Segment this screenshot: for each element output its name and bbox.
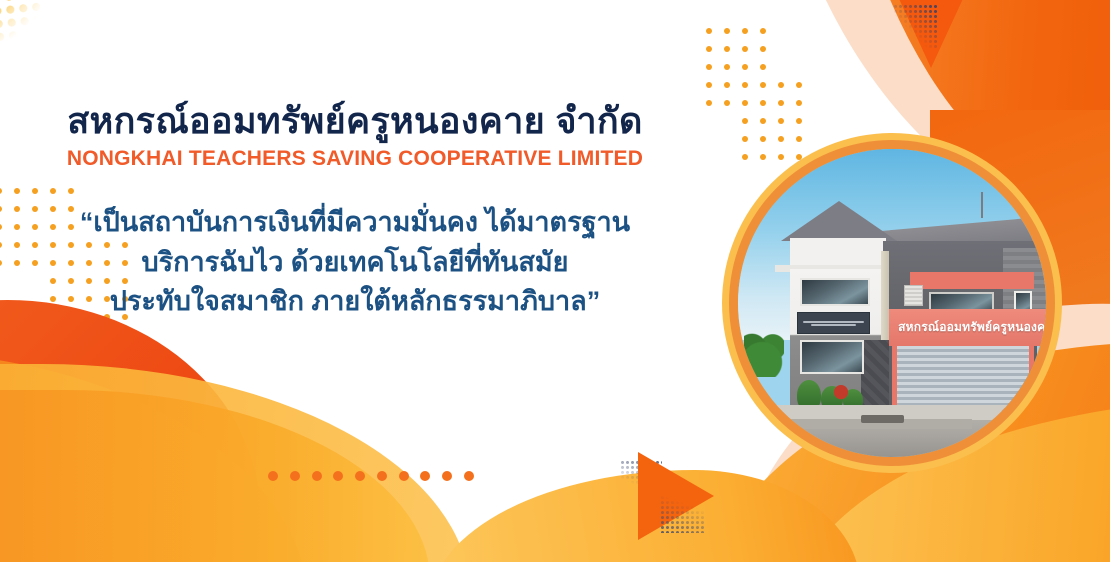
triangle-down-halftone-icon: [893, 4, 937, 48]
photo-coral-accent-band: [910, 272, 1033, 289]
photo-drain-cover: [861, 415, 904, 423]
vision-quote: “เป็นสถาบันการเงินที่มีความมั่นคง ได้มาต…: [0, 203, 710, 321]
building-photo-ring-outer: สหกรณ์ออมทรัพย์ครูหนองคาย: [722, 133, 1062, 473]
photo-palm-plant: [744, 309, 784, 377]
photo-building-sign-text: สหกรณ์ออมทรัพย์ครูหนองคาย: [898, 318, 1046, 337]
photo-gable-roof: [781, 201, 897, 241]
halftone-dot-fan-icon: [0, 0, 231, 110]
vision-quote-line: ประทับใจสมาชิก ภายใต้หลักธรรมาภิบาล”: [0, 282, 710, 321]
photo-ac-unit: [904, 285, 922, 307]
office-building-photo: สหกรณ์ออมทรัพย์ครูหนองคาย: [738, 149, 1046, 457]
photo-red-plant: [830, 380, 852, 402]
banner-text-block: สหกรณ์ออมทรัพย์ครูหนองคาย จำกัด NONGKHAI…: [0, 100, 710, 322]
photo-roller-shutter: [892, 346, 1034, 408]
photo-window-upper-left: [800, 278, 871, 306]
photo-building-sign: สหกรณ์ออมทรัพย์ครูหนองคาย: [886, 309, 1046, 346]
photo-roof-antenna: [981, 192, 983, 218]
photo-window-lower-left: [800, 340, 865, 374]
organization-title-thai: สหกรณ์ออมทรัพย์ครูหนองคาย จำกัด: [0, 100, 710, 142]
building-photo-ring-inner: สหกรณ์ออมทรัพย์ครูหนองคาย: [729, 140, 1055, 466]
cooperative-vision-banner: สหกรณ์ออมทรัพย์ครูหนองคาย สหกรณ์: [0, 0, 1110, 562]
vision-quote-line: “เป็นสถาบันการเงินที่มีความมั่นคง ได้มาต…: [0, 203, 710, 242]
triangle-right-halftone-lower-icon: [660, 495, 704, 533]
photo-entrance-door: [861, 340, 889, 408]
vision-quote-line: บริการฉับไว ด้วยเทคโนโลยีที่ทันสมัย: [0, 243, 710, 282]
dotted-rule-decoration: [268, 470, 474, 482]
photo-wall-plaque: [797, 312, 871, 334]
organization-title-english: NONGKHAI TEACHERS SAVING COOPERATIVE LIM…: [0, 147, 710, 171]
